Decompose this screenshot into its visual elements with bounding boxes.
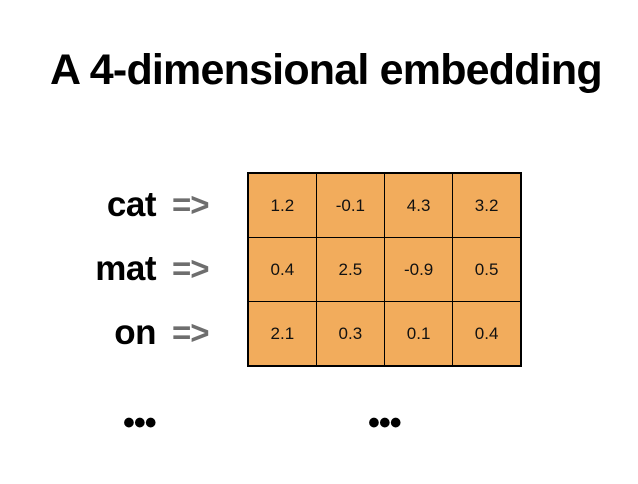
word-label-on: on bbox=[114, 315, 156, 350]
ellipsis-words: ••• bbox=[123, 406, 156, 440]
matrix-cell: 4.3 bbox=[385, 173, 453, 238]
arrow-icon-on: => bbox=[172, 316, 224, 349]
slide-canvas: A 4-dimensional embedding cat => mat => … bbox=[0, 0, 638, 484]
word-label-column: cat => mat => on => bbox=[0, 172, 232, 365]
matrix-cell: 0.1 bbox=[385, 302, 453, 367]
table-row: 0.4 2.5 -0.9 0.5 bbox=[248, 238, 521, 302]
matrix-cell: 0.3 bbox=[316, 302, 384, 367]
page-title: A 4-dimensional embedding bbox=[50, 48, 600, 93]
word-label-cat: cat bbox=[107, 187, 156, 222]
matrix-cell: 0.4 bbox=[453, 302, 521, 367]
matrix-cell: 0.5 bbox=[453, 238, 521, 302]
embedding-matrix: 1.2 -0.1 4.3 3.2 0.4 2.5 -0.9 0.5 2.1 0.… bbox=[247, 172, 522, 367]
table-row: 1.2 -0.1 4.3 3.2 bbox=[248, 173, 521, 238]
table-row: 2.1 0.3 0.1 0.4 bbox=[248, 302, 521, 367]
matrix-cell: 2.5 bbox=[316, 238, 384, 302]
matrix-cell: 0.4 bbox=[248, 238, 316, 302]
arrow-icon-mat: => bbox=[172, 252, 224, 285]
matrix-cell: -0.1 bbox=[316, 173, 384, 238]
ellipsis-vectors: ••• bbox=[368, 406, 401, 440]
matrix-cell: 1.2 bbox=[248, 173, 316, 238]
word-label-mat: mat bbox=[95, 251, 156, 286]
arrow-icon-cat: => bbox=[172, 188, 224, 221]
matrix-cell: 2.1 bbox=[248, 302, 316, 367]
matrix-cell: 3.2 bbox=[453, 173, 521, 238]
matrix-cell: -0.9 bbox=[385, 238, 453, 302]
label-row-on: on => bbox=[0, 301, 232, 365]
label-row-cat: cat => bbox=[0, 172, 232, 236]
label-row-mat: mat => bbox=[0, 236, 232, 300]
